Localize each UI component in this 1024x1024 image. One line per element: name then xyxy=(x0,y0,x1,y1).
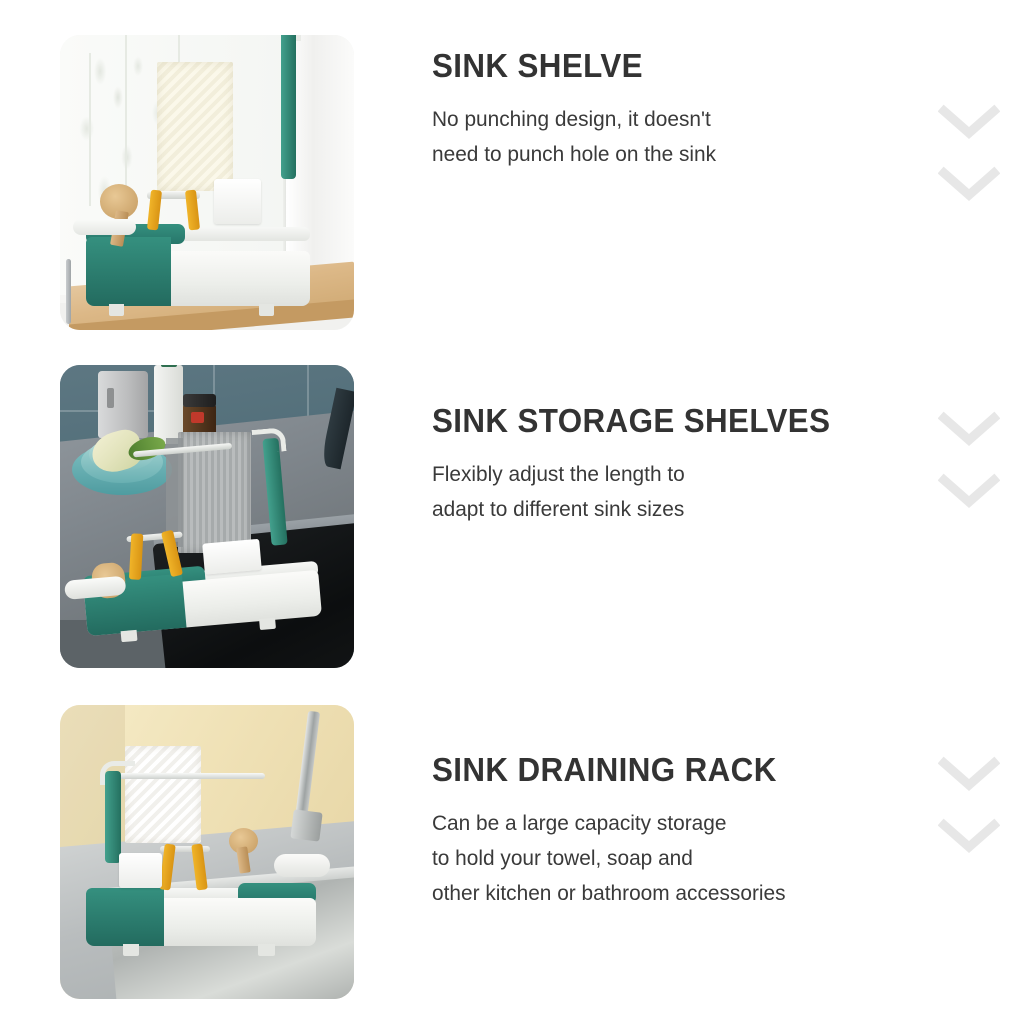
product-feature-infographic: SINK SHELVE No punching design, it doesn… xyxy=(0,0,1024,1024)
chevron-down-icon[interactable] xyxy=(938,753,1000,793)
scene-windowsill xyxy=(60,35,354,330)
scene-steel-sink xyxy=(60,705,354,999)
product-photo-sink-draining-rack xyxy=(60,705,354,999)
feature-title: SINK STORAGE SHELVES xyxy=(432,404,830,437)
feature-row-sink-shelve: SINK SHELVE No punching design, it doesn… xyxy=(0,35,1024,330)
sink-caddy-rack xyxy=(86,174,309,307)
sink-caddy-rack xyxy=(86,858,315,946)
product-photo-sink-shelve xyxy=(60,35,354,330)
chevron-down-icon[interactable] xyxy=(938,408,1000,448)
chevron-down-icon[interactable] xyxy=(938,815,1000,855)
feature-description: Flexibly adjust the length to adapt to d… xyxy=(432,457,839,527)
chevron-group-1[interactable] xyxy=(938,101,1000,203)
towel-cream xyxy=(157,62,233,192)
chevron-down-icon[interactable] xyxy=(938,101,1000,141)
feature-description: No punching design, it doesn't need to p… xyxy=(432,102,716,172)
feature-title: SINK SHELVE xyxy=(432,49,710,82)
feature-text-sink-storage-shelves: SINK STORAGE SHELVES Flexibly adjust the… xyxy=(432,404,851,527)
feature-description: Can be a large capacity storage to hold … xyxy=(432,806,786,910)
feature-row-sink-storage-shelves: SINK STORAGE SHELVES Flexibly adjust the… xyxy=(0,365,1024,668)
chevron-group-2[interactable] xyxy=(938,408,1000,510)
feature-text-sink-draining-rack: SINK DRAINING RACK Can be a large capaci… xyxy=(432,753,796,910)
towel-white xyxy=(125,746,201,843)
chevron-down-icon[interactable] xyxy=(938,163,1000,203)
feature-row-sink-draining-rack: SINK DRAINING RACK Can be a large capaci… xyxy=(0,705,1024,999)
feature-title: SINK DRAINING RACK xyxy=(432,753,778,786)
scene-grey-counter xyxy=(60,365,354,668)
chevron-down-icon[interactable] xyxy=(938,470,1000,510)
chevron-group-3[interactable] xyxy=(938,753,1000,855)
feature-text-sink-shelve: SINK SHELVE No punching design, it doesn… xyxy=(432,49,725,172)
product-photo-sink-storage-shelves xyxy=(60,365,354,668)
